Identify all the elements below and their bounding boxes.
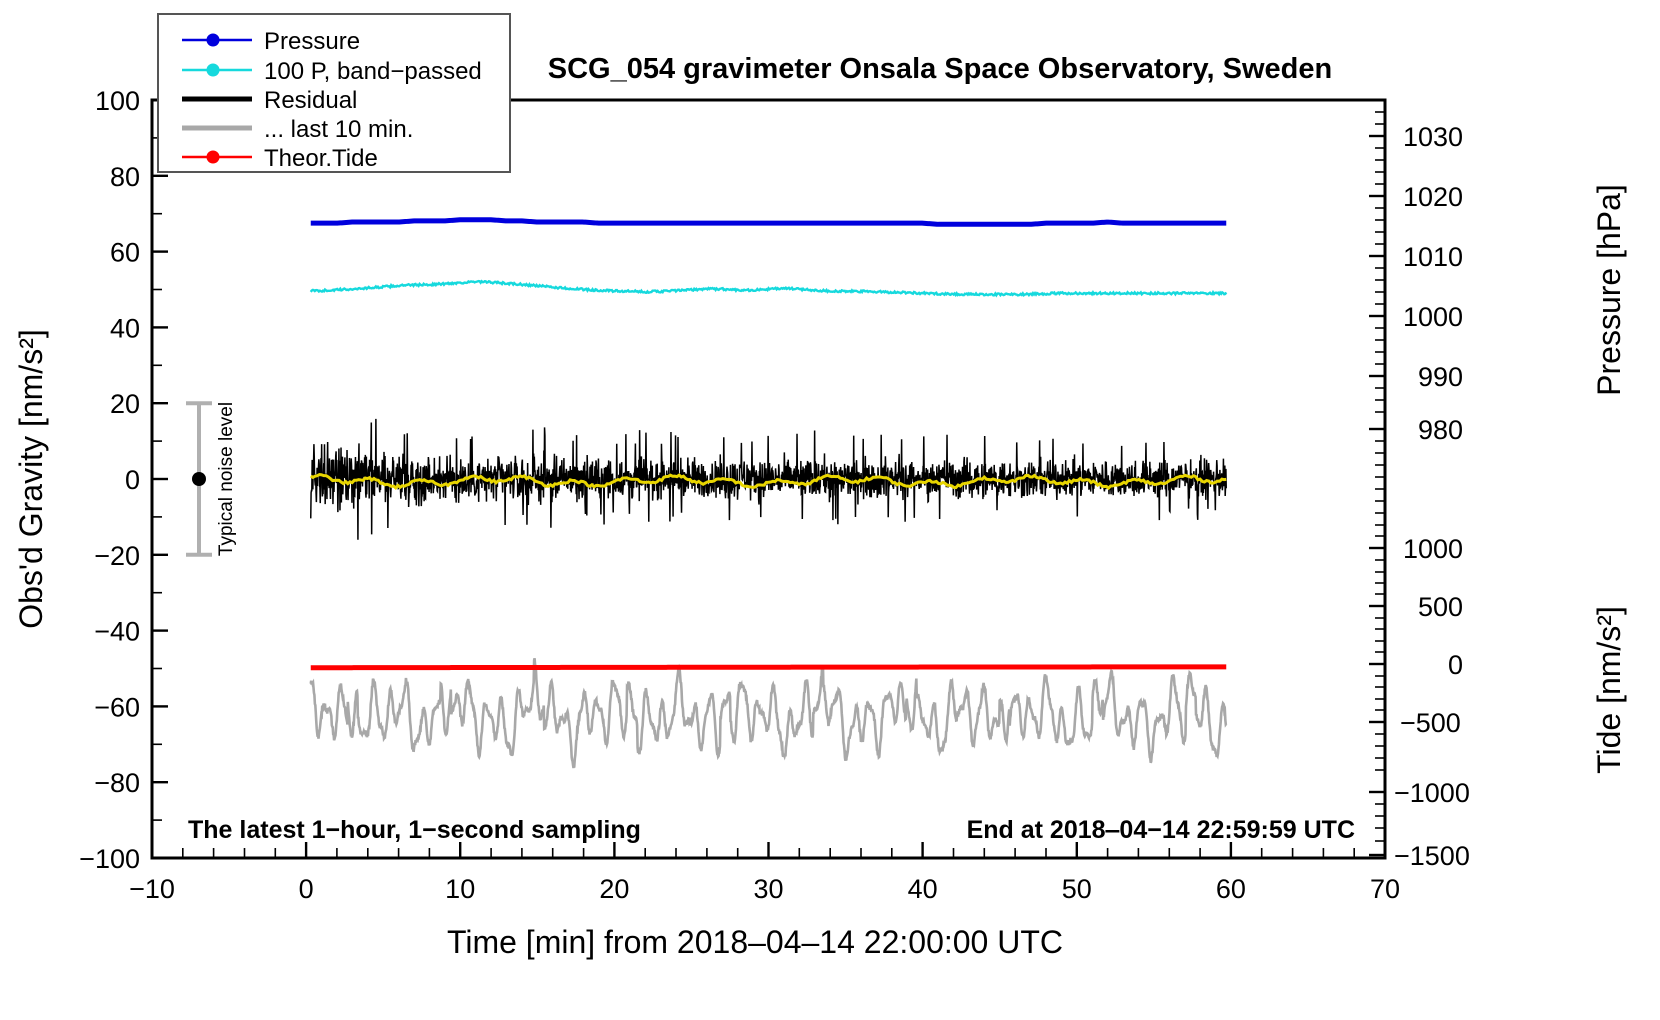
bottom-axis-title: Time [min] from 2018‒04‒14 22:00:00 UTC bbox=[447, 924, 1063, 960]
left-tick-label: 80 bbox=[110, 162, 140, 192]
left-tick-label: −100 bbox=[79, 844, 140, 874]
annotation-right-note: End at 2018‒04−14 22:59:59 UTC bbox=[967, 816, 1355, 844]
right-tide-tick-label: −1500 bbox=[1394, 841, 1470, 871]
bottom-tick-label: 50 bbox=[1062, 874, 1092, 904]
legend-label: Residual bbox=[264, 87, 357, 114]
right-pressure-axis-title: Pressure [hPa] bbox=[1591, 184, 1627, 396]
left-tick-label: 40 bbox=[110, 313, 140, 343]
left-axis-title: Obs'd Gravity [nm/s²] bbox=[13, 329, 49, 629]
legend-label: ... last 10 min. bbox=[264, 116, 413, 143]
right-tide-axis-title: Tide [nm/s²] bbox=[1591, 606, 1627, 774]
right-pressure-tick-label: 980 bbox=[1418, 415, 1463, 445]
noise-center-dot bbox=[192, 472, 206, 486]
left-tick-label: 0 bbox=[125, 465, 140, 495]
left-tick-label: 100 bbox=[95, 86, 140, 116]
legend-marker-band-passed bbox=[207, 64, 220, 77]
right-pressure-tick-label: 1030 bbox=[1403, 122, 1463, 152]
left-tick-label: −40 bbox=[94, 617, 140, 647]
legend-marker-theor-tide bbox=[207, 151, 220, 164]
plot-svg: SCG_054 gravimeter Onsala Space Observat… bbox=[0, 0, 1660, 1020]
left-tick-label: −20 bbox=[94, 541, 140, 571]
right-pressure-tick-label: 1020 bbox=[1403, 182, 1463, 212]
trace-theoretical-tide bbox=[311, 667, 1227, 668]
bottom-tick-label: 30 bbox=[753, 874, 783, 904]
left-tick-label: 20 bbox=[110, 389, 140, 419]
right-pressure-tick-label: 990 bbox=[1418, 362, 1463, 392]
right-tide-tick-label: −1000 bbox=[1394, 778, 1470, 808]
right-tide-tick-label: 0 bbox=[1448, 650, 1463, 680]
left-tick-label: −60 bbox=[94, 692, 140, 722]
bottom-tick-label: 70 bbox=[1370, 874, 1400, 904]
noise-level-label: Typical noise level bbox=[216, 402, 237, 556]
gravimeter-plot-page: SCG_054 gravimeter Onsala Space Observat… bbox=[0, 0, 1660, 1020]
right-pressure-tick-label: 1010 bbox=[1403, 242, 1463, 272]
bottom-tick-label: 0 bbox=[299, 874, 314, 904]
legend-label: 100 P, band−passed bbox=[264, 58, 482, 85]
legend-label: Pressure bbox=[264, 28, 360, 55]
bottom-tick-label: 20 bbox=[599, 874, 629, 904]
legend-marker-pressure bbox=[207, 34, 220, 47]
left-tick-label: 60 bbox=[110, 238, 140, 268]
right-tide-tick-label: 500 bbox=[1418, 592, 1463, 622]
legend-label: Theor.Tide bbox=[264, 145, 378, 172]
right-pressure-tick-label: 1000 bbox=[1403, 302, 1463, 332]
bottom-tick-label: −10 bbox=[129, 874, 175, 904]
bottom-tick-label: 40 bbox=[908, 874, 938, 904]
bottom-tick-label: 10 bbox=[445, 874, 475, 904]
right-tide-tick-label: 1000 bbox=[1403, 534, 1463, 564]
right-tide-tick-label: −500 bbox=[1400, 708, 1461, 738]
left-tick-label: −80 bbox=[94, 768, 140, 798]
page-title: SCG_054 gravimeter Onsala Space Observat… bbox=[548, 53, 1332, 85]
bottom-tick-label: 60 bbox=[1216, 874, 1246, 904]
legend[interactable]: Pressure 100 P, band−passed Residual ...… bbox=[158, 14, 510, 172]
annotation-left-note: The latest 1−hour, 1−second sampling bbox=[188, 816, 641, 844]
